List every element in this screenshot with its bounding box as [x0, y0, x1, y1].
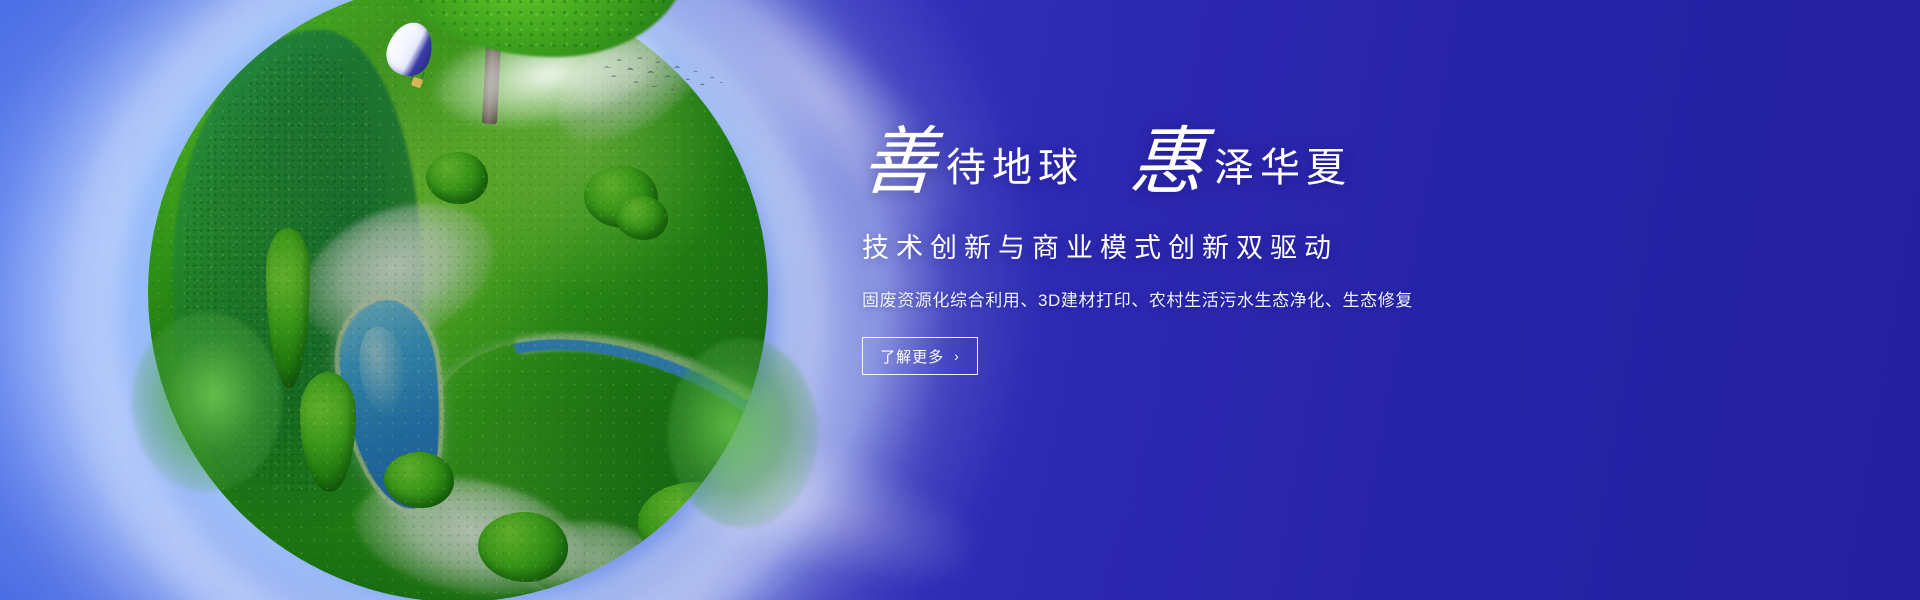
page-title: 善 待地球 惠 泽华夏 [862, 126, 1602, 200]
balloon-envelope [381, 17, 440, 82]
tree-clump [616, 196, 668, 240]
headline-part1-large: 善 [859, 126, 942, 200]
chevron-right-icon: › [954, 349, 960, 363]
tree-clump [584, 166, 658, 228]
hot-air-balloon-icon [388, 22, 432, 94]
balloon-basket [411, 77, 423, 89]
learn-more-button[interactable]: 了解更多 › [862, 337, 978, 375]
lake-glint [352, 323, 415, 422]
silhouette-tree-right [668, 338, 818, 528]
globe-cloud [346, 461, 592, 600]
globe-cloud [281, 177, 514, 371]
tree-clump [426, 152, 488, 204]
hero-content: 善 待地球 惠 泽华夏 技术创新与商业模式创新双驱动 固废资源化综合利用、3D建… [862, 126, 1602, 375]
headline-part2-large: 惠 [1127, 126, 1210, 200]
globe-cloud [516, 514, 673, 600]
hero-subtitle: 技术创新与商业模式创新双驱动 [862, 226, 1602, 265]
hero-banner: 善 待地球 惠 泽华夏 技术创新与商业模式创新双驱动 固废资源化综合利用、3D建… [0, 0, 1920, 600]
hero-description: 固废资源化综合利用、3D建材打印、农村生活污水生态净化、生态修复 [862, 286, 1602, 311]
tree-clump [300, 372, 356, 492]
silhouette-tree-left [132, 312, 282, 492]
learn-more-label: 了解更多 [880, 346, 944, 367]
tree-clump [478, 512, 568, 582]
tree-clump [384, 452, 454, 508]
headline-part2-small: 泽华夏 [1208, 148, 1352, 188]
lake [333, 296, 450, 515]
bird-flock-icon [600, 52, 730, 98]
headline-part1-small: 待地球 [940, 148, 1084, 188]
